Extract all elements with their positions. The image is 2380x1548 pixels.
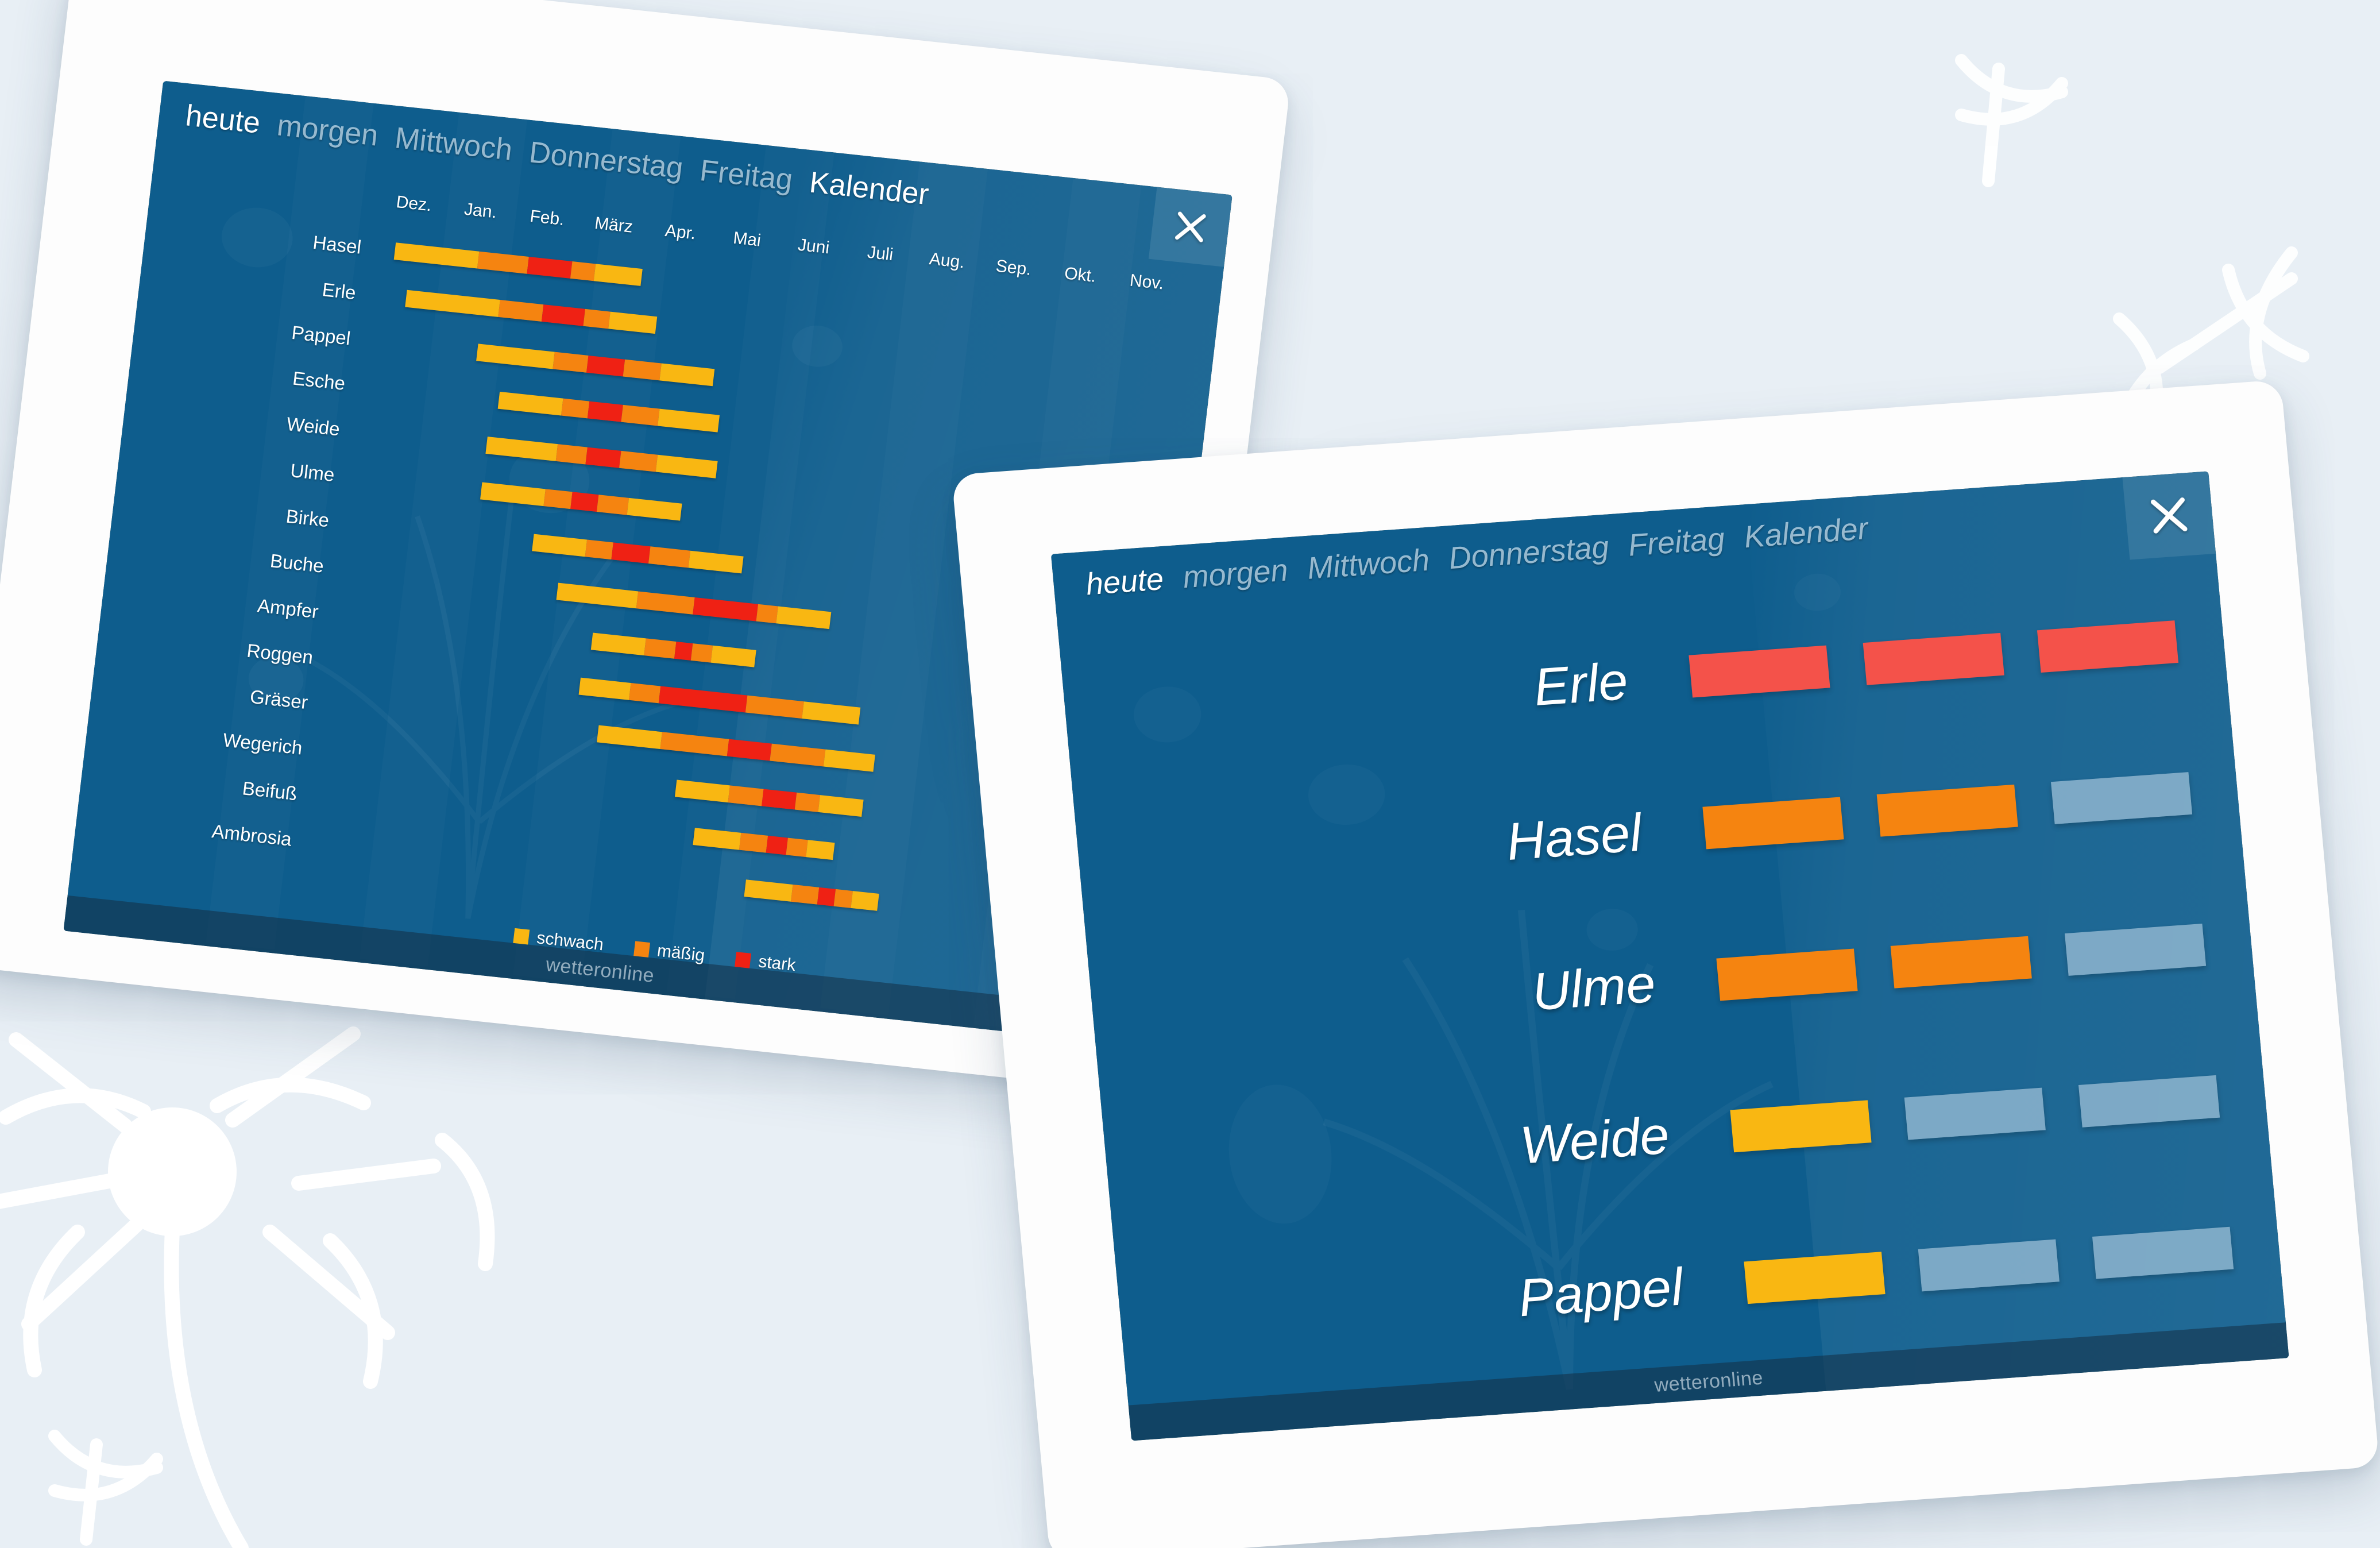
close-icon [2147,494,2191,537]
season-segment-schwach [627,498,682,521]
season-segment-mäßig [791,885,820,905]
close-icon [1172,209,1209,245]
season-segment-stark [527,257,573,279]
season-segment-mäßig [739,833,768,853]
level-chip-abends [2037,621,2178,673]
season-segment-stark [693,597,758,621]
nav-item-mittwoch[interactable]: Mittwoch [1305,542,1431,586]
nav-item-heute[interactable]: heute [1084,561,1165,602]
season-segment-schwach [802,701,861,724]
season-segment-mäßig [636,591,695,614]
season-segment-schwach [594,264,643,285]
plant-label-weide: Weide [1105,1104,1695,1206]
season-bar [591,632,756,667]
nav-item-kalender[interactable]: Kalender [1742,511,1869,555]
season-segment-schwach [688,551,743,574]
season-segment-schwach [394,242,480,268]
nav-item-mittwoch[interactable]: Mittwoch [393,121,514,167]
nav-item-morgen[interactable]: morgen [275,108,380,153]
season-segment-stark [586,356,625,377]
plant-label-hasel: Hasel [1077,801,1667,903]
season-bar [744,879,879,911]
season-segment-schwach [818,795,863,817]
season-segment-schwach [675,780,730,803]
season-segment-mäßig [555,444,588,464]
season-segment-schwach [476,343,555,369]
pollen-app-today-view: heute morgen Mittwoch Donnerstag Freitag… [1051,471,2289,1441]
season-segment-schwach [480,482,546,507]
level-chip-abends [2078,1075,2220,1128]
season-segment-mäßig [648,546,690,568]
plant-label-erle: Erle [1064,650,1653,752]
season-segment-stark [612,542,650,563]
level-chip-mittags [1863,633,2004,685]
today-level-chips [1690,1072,2267,1155]
season-segment-mäßig [499,300,544,322]
season-segment-schwach [776,606,831,629]
season-segment-stark [674,642,693,661]
season-bar [693,828,834,860]
season-segment-mäßig [795,793,820,812]
legend-swatch-maessig [633,941,650,958]
tablet-bezel-right: heute morgen Mittwoch Donnerstag Freitag… [1051,471,2289,1441]
season-segment-schwach [486,437,558,461]
nav-item-donnerstag[interactable]: Donnerstag [527,135,685,186]
level-chip-morgens [1689,646,1830,698]
today-level-chips [1676,920,2253,1003]
nav-item-kalender[interactable]: Kalender [807,165,930,212]
level-chip-morgens [1730,1100,1871,1152]
season-segment-mäßig [621,405,659,426]
season-segment-mäßig [597,495,629,515]
season-segment-mäßig [544,489,573,509]
nav-item-freitag[interactable]: Freitag [1626,521,1726,563]
tablet-device-right: heute morgen Mittwoch Donnerstag Freitag… [952,380,2380,1548]
season-segment-schwach [597,725,662,750]
nav-item-freitag[interactable]: Freitag [698,153,794,198]
level-chip-abends [2092,1226,2234,1279]
season-segment-schwach [659,363,714,386]
season-segment-schwach [824,750,875,772]
nav-item-heute[interactable]: heute [184,98,262,140]
season-segment-mäßig [619,451,658,472]
season-segment-schwach [557,582,639,608]
season-segment-stark [570,492,599,512]
season-bar [480,482,682,521]
season-segment-mäßig [583,309,611,329]
tablet-screen-right: heute morgen Mittwoch Donnerstag Freitag… [1051,471,2289,1441]
season-segment-mäßig [834,889,852,908]
season-segment-mäßig [570,261,596,281]
nav-item-donnerstag[interactable]: Donnerstag [1447,529,1610,576]
today-level-chips [1649,617,2226,701]
season-segment-stark [766,836,788,855]
level-chip-morgens [1702,797,1844,850]
level-chip-morgens [1744,1252,1885,1304]
today-level-chips [1663,769,2239,852]
season-segment-mäßig [629,683,661,703]
season-segment-mäßig [770,744,825,767]
plant-label-ulme: Ulme [1091,952,1681,1055]
legend-gap [713,957,728,959]
level-chip-mittags [1918,1239,2060,1291]
season-segment-stark [659,686,747,712]
season-segment-mäßig [728,786,764,806]
legend-swatch-schwach [513,928,530,945]
season-segment-mäßig [644,638,677,658]
season-segment-schwach [851,891,879,911]
season-segment-stark [727,739,772,761]
level-chip-abends [2051,772,2192,824]
season-segment-mäßig [623,359,662,380]
season-segment-mäßig [756,604,778,624]
season-segment-schwach [579,677,631,700]
season-segment-stark [586,447,621,468]
season-segment-schwach [744,879,793,901]
legend-swatch-stark [735,952,751,968]
season-segment-mäßig [561,399,590,419]
level-chip-mittags [1891,936,2032,989]
season-segment-stark [762,789,797,810]
legend-label-stark: stark [758,952,797,975]
season-segment-schwach [591,632,646,655]
season-segment-mäßig [477,252,529,274]
nav-item-morgen[interactable]: morgen [1181,553,1289,596]
level-chip-mittags [1877,785,2018,837]
season-segment-mäßig [585,539,613,559]
close-button-left[interactable] [1149,187,1232,267]
season-segment-schwach [711,645,756,667]
season-segment-schwach [693,828,741,850]
season-segment-mäßig [691,643,713,663]
season-segment-schwach [532,534,587,557]
level-chip-mittags [1904,1087,2046,1140]
today-level-chips [1704,1223,2281,1307]
season-segment-stark [817,887,836,906]
legend-gap [612,946,627,948]
level-chip-morgens [1716,948,1857,1001]
season-segment-schwach [608,311,657,333]
season-segment-stark [588,402,623,422]
plant-label-pappel: Pappel [1119,1256,1709,1358]
pollen-today-rows: ErleHaselUlmeWeidePappel [1059,563,2285,1403]
brand-label: wetteronline [1653,1366,1764,1396]
season-segment-stark [542,304,585,326]
season-segment-schwach [405,290,500,317]
season-bar [675,780,863,817]
season-segment-mäßig [786,838,808,858]
season-bar [532,534,744,574]
season-segment-schwach [498,392,563,416]
close-button-right[interactable] [2122,471,2216,559]
season-segment-mäßig [553,352,589,372]
season-segment-schwach [806,840,834,860]
season-segment-mäßig [660,732,729,756]
season-segment-schwach [658,409,720,433]
level-chip-abends [2065,924,2206,976]
season-segment-mäßig [745,695,804,718]
season-segment-schwach [655,455,717,478]
